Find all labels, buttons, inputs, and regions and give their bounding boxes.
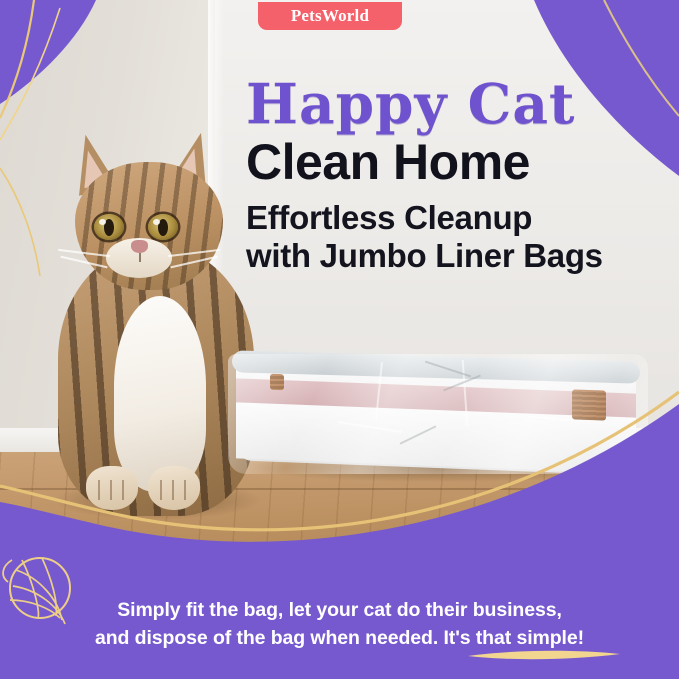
subheadline-line-2: with Jumbo Liner Bags: [246, 237, 666, 275]
cat-paw-right: [148, 466, 200, 510]
product-ad-banner: PetsWorld Happy Cat Clean Home Effortles…: [0, 0, 679, 679]
cat-nose: [131, 240, 148, 253]
brand-logo-badge: PetsWorld: [258, 2, 402, 30]
brand-name: PetsWorld: [291, 6, 369, 26]
subheadline-line-1: Effortless Cleanup: [246, 199, 666, 237]
footer-caption-line-1: Simply fit the bag, let your cat do thei…: [0, 596, 679, 624]
cat-eye-left: [94, 214, 124, 240]
headline-block: Happy Cat Clean Home Effortless Cleanup …: [246, 76, 666, 276]
headline-secondary: Clean Home: [246, 136, 666, 189]
cat-mouth: [139, 253, 141, 262]
jumbo-liner-bag: [228, 354, 648, 474]
footer-caption-line-2: and dispose of the bag when needed. It's…: [0, 624, 679, 652]
footer-caption: Simply fit the bag, let your cat do thei…: [0, 596, 679, 653]
cat-eye-right: [148, 214, 178, 240]
headline-primary: Happy Cat: [246, 76, 666, 132]
cat-chest: [114, 296, 206, 492]
cat-paw-left: [86, 466, 138, 510]
litter-box-product: [228, 348, 648, 480]
